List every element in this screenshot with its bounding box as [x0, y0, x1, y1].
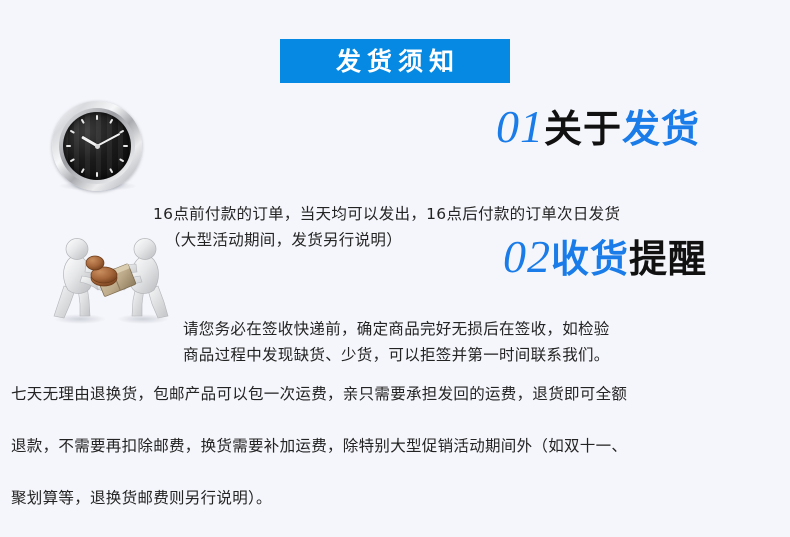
wall-clock-icon [52, 101, 144, 193]
section-02-number: 02 [503, 231, 551, 282]
page-header-banner: 发货须知 [280, 39, 510, 83]
clock-face [63, 112, 131, 180]
return-policy-line3: 聚划算等，退换货邮费则另行说明）。 [11, 485, 786, 511]
return-policy-line1: 七天无理由退换货，包邮产品可以包一次运费，亲只需要承担发回的运费，退货即可全额 [11, 381, 786, 407]
return-policy-paragraph: 七天无理由退换货，包邮产品可以包一次运费，亲只需要承担发回的运费，退货即可全额 … [11, 355, 786, 537]
section-02-heading-blue: 收货 [551, 237, 629, 281]
section-01-heading-blue: 发货 [622, 107, 700, 151]
page-title: 发货须知 [330, 49, 460, 74]
section-02-heading-dark: 提醒 [629, 237, 707, 281]
parcel-handover-icon [44, 236, 179, 324]
section-01-body-line1: 16点前付款的订单，当天均可以发出，16点后付款的订单次日发货 [153, 205, 620, 223]
section-01-heading: 01关于发货 [496, 104, 700, 150]
section-01-heading-dark: 关于 [544, 107, 622, 151]
clock-center-pin [95, 144, 100, 149]
section-02-heading: 02收货提醒 [503, 234, 707, 280]
return-policy-line2: 退款，不需要再扣除邮费，换货需要补加运费，除特别大型促销活动期间外（如双十一、 [11, 433, 786, 459]
section-02-body-line1: 请您务必在签收快递前，确定商品完好无损后在签收，如检验 [183, 320, 610, 338]
shipping-notice-page: 发货须知 01关于发货 16点前付款的订单，当天均可以发出，1 [0, 0, 790, 438]
section-01-number: 01 [496, 101, 544, 152]
clock-minute-hand [97, 133, 121, 147]
